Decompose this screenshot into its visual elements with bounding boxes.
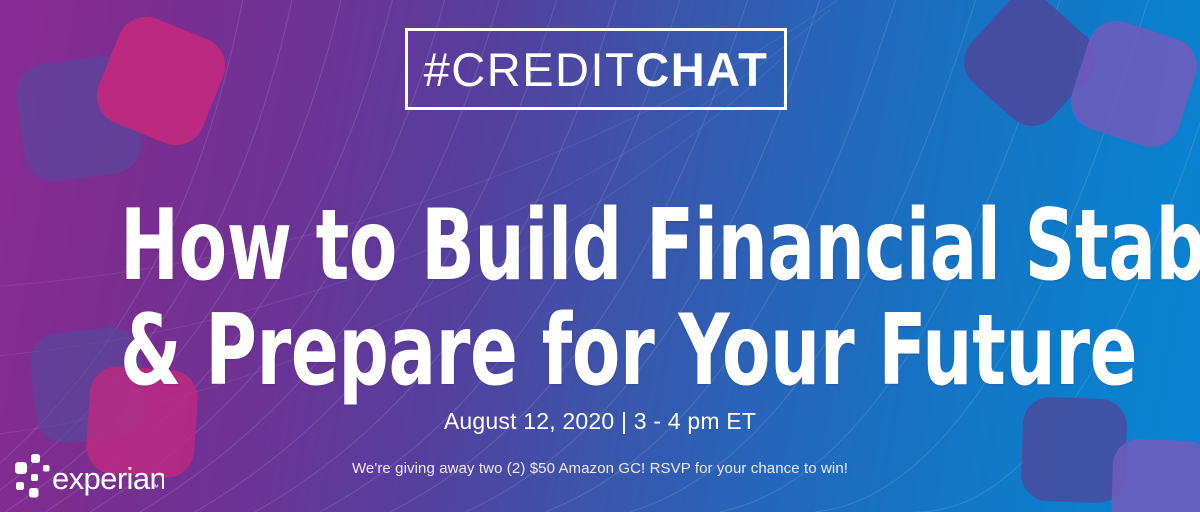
giveaway-note: We're giving away two (2) $50 Amazon GC!… (0, 460, 1200, 477)
experian-dot-mark (15, 454, 50, 498)
experian-logo: experian ™ (14, 452, 164, 498)
experian-trademark: ™ (151, 483, 159, 492)
page-title: How to Build Financial Stability & Prepa… (120, 194, 1080, 404)
experian-wordmark: experian (52, 461, 164, 496)
event-date-time: August 12, 2020 | 3 - 4 pm ET (0, 408, 1200, 435)
credit-chat-badge: #CREDITCHAT (405, 28, 787, 110)
badge-hashtag-light: #CREDIT (424, 43, 636, 96)
badge-text: #CREDITCHAT (424, 46, 769, 93)
headline-line-1: How to Build Financial Stability (120, 194, 1080, 299)
badge-hashtag-bold: CHAT (635, 43, 768, 96)
headline-line-2: & Prepare for Your Future (120, 299, 1080, 404)
promotional-banner: #CREDITCHAT How to Build Financial Stabi… (0, 0, 1200, 512)
